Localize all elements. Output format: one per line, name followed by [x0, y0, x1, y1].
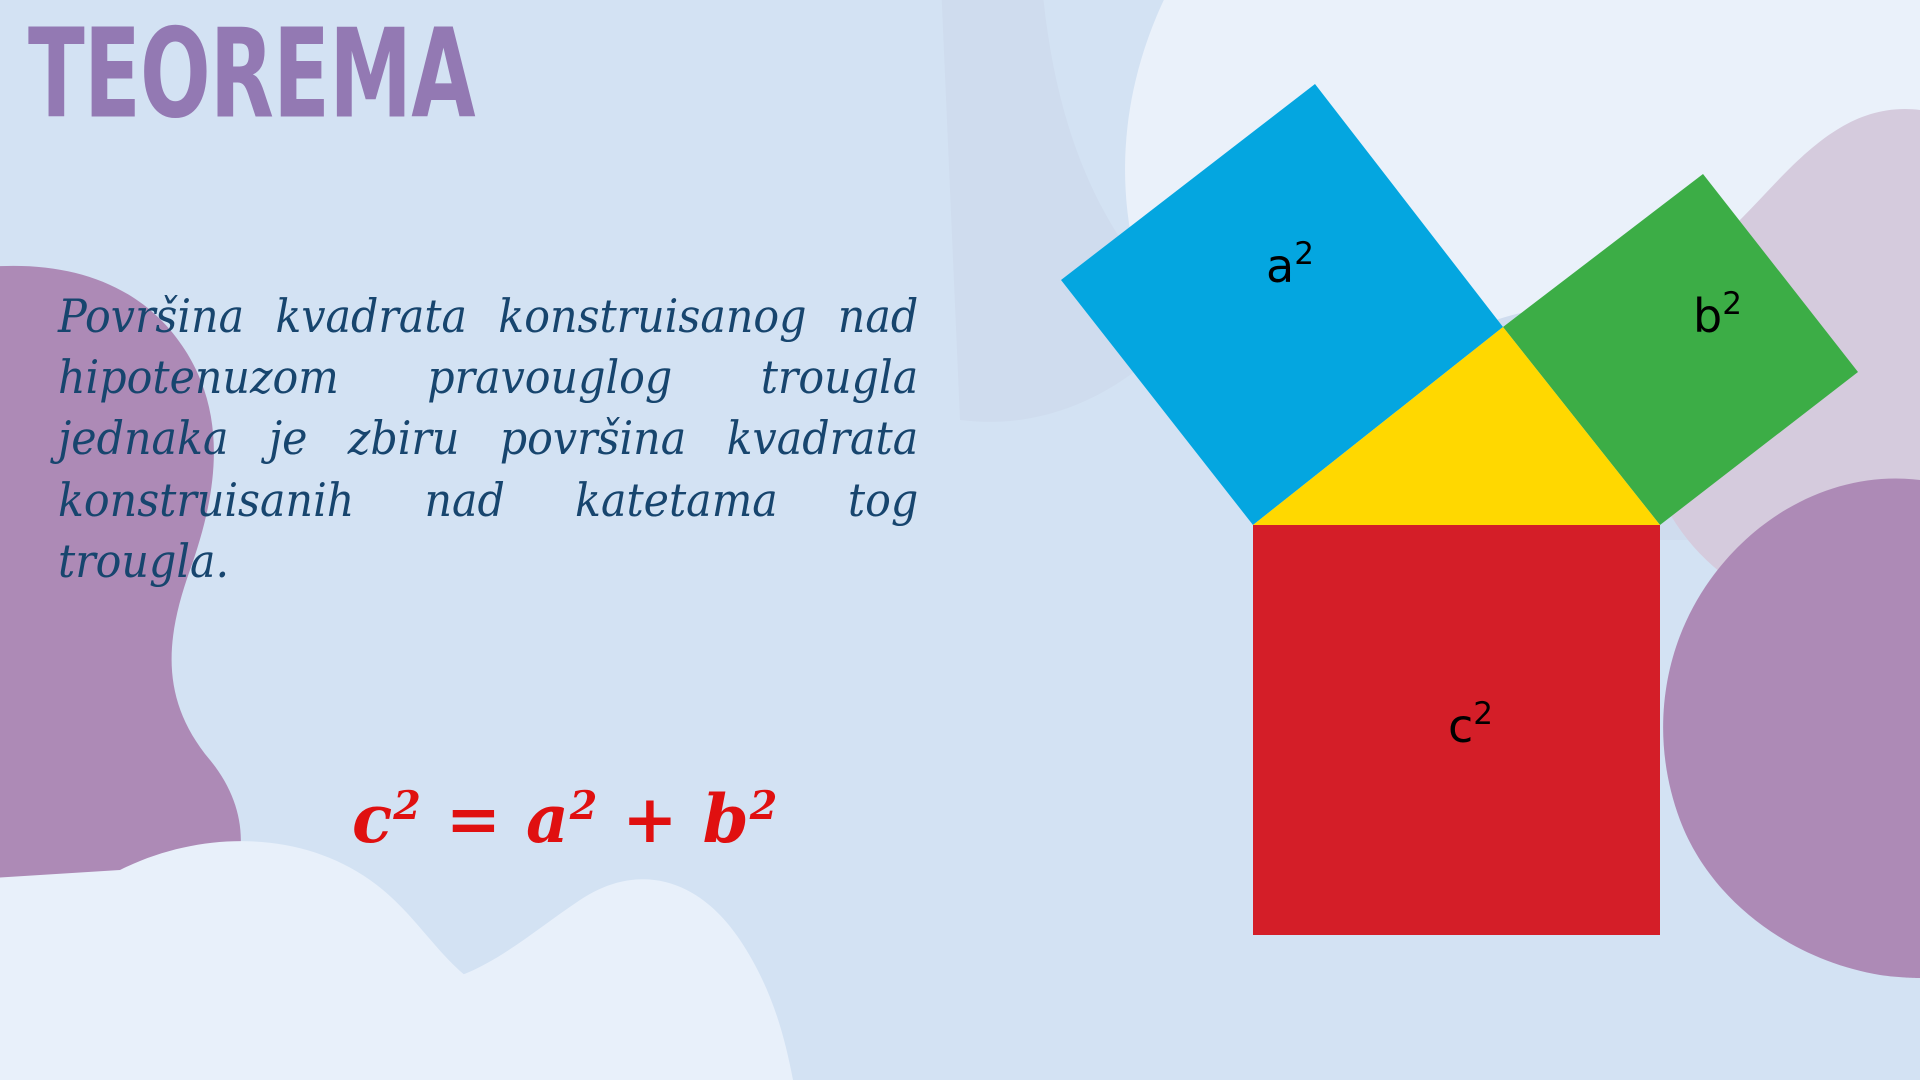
- formula-c-exponent: 2: [393, 783, 422, 829]
- formula-a-exponent: 2: [570, 783, 599, 829]
- formula-c-base: c: [352, 780, 393, 858]
- formula-b-exponent: 2: [750, 783, 779, 829]
- theorem-statement-text: Površina kvadrata konstruisanog nad hipo…: [58, 286, 918, 653]
- slide-canvas: TEOREMA Površina kvadrata konstruisanog …: [0, 0, 1920, 1080]
- square-c-red[interactable]: [1253, 525, 1660, 935]
- page-title: TEOREMA: [28, 8, 475, 141]
- pythagorean-formula: c2 = a2 + b2: [352, 786, 778, 852]
- formula-equals: =: [422, 780, 526, 858]
- formula-plus: +: [598, 780, 702, 858]
- formula-a-base: a: [526, 780, 570, 858]
- formula-b-base: b: [703, 780, 750, 858]
